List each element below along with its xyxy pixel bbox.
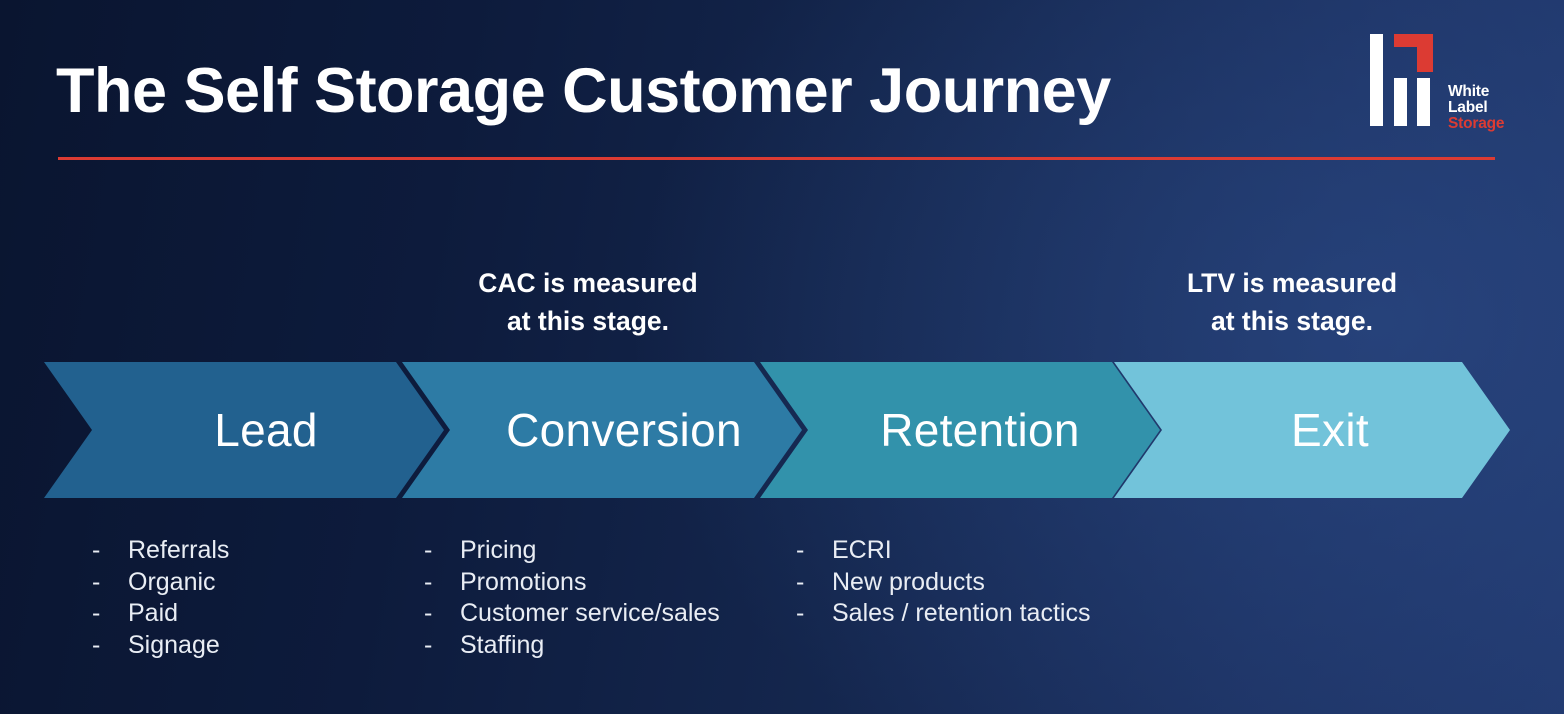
bullet-dash-icon: - — [92, 568, 128, 597]
logo-bar-tall — [1370, 34, 1383, 126]
list-item: - Signage — [92, 631, 229, 663]
callout-cac-line2: at this stage. — [418, 303, 758, 341]
list-item-label: Staffing — [460, 631, 544, 660]
logo-text-label: Label — [1448, 100, 1504, 116]
list-item: - Customer service/sales — [424, 599, 720, 631]
list-item-label: Customer service/sales — [460, 599, 720, 628]
journey-stage-band: Lead Conversion Retention Exit — [0, 362, 1564, 498]
bullet-dash-icon: - — [92, 599, 128, 628]
stage-label-exit: Exit — [1291, 403, 1369, 457]
list-item: - Pricing — [424, 536, 720, 568]
stage-label-lead: Lead — [214, 403, 318, 457]
callout-ltv-line2: at this stage. — [1122, 303, 1462, 341]
stage-chevron-conversion[interactable]: Conversion — [402, 362, 802, 498]
callout-cac-line1: CAC is measured — [478, 268, 697, 298]
list-item: - Sales / retention tactics — [796, 599, 1090, 631]
logo-bar-mid — [1394, 78, 1407, 126]
bullet-dash-icon: - — [92, 631, 128, 660]
stage-label-retention: Retention — [880, 403, 1080, 457]
bullet-dash-icon: - — [424, 631, 460, 660]
page-title: The Self Storage Customer Journey — [56, 58, 1386, 124]
list-item: - Promotions — [424, 568, 720, 600]
brand-logo: White Label Storage — [1370, 28, 1510, 138]
bullet-dash-icon: - — [796, 568, 832, 597]
callout-ltv-line1: LTV is measured — [1187, 268, 1397, 298]
bullet-dash-icon: - — [424, 599, 460, 628]
bullet-dash-icon: - — [92, 536, 128, 565]
list-item-label: New products — [832, 568, 985, 597]
logo-wordmark: White Label Storage — [1448, 84, 1504, 131]
bullet-dash-icon: - — [424, 568, 460, 597]
list-item-label: Organic — [128, 568, 216, 597]
bullet-dash-icon: - — [424, 536, 460, 565]
stage-chevron-retention[interactable]: Retention — [760, 362, 1160, 498]
callout-cac: CAC is measured at this stage. — [418, 265, 758, 340]
callout-ltv: LTV is measured at this stage. — [1122, 265, 1462, 340]
slide-canvas: The Self Storage Customer Journey White … — [0, 0, 1564, 714]
list-retention: - ECRI - New products - Sales / retentio… — [796, 536, 1090, 631]
list-item-label: Signage — [128, 631, 220, 660]
logo-text-white: White — [1448, 84, 1504, 100]
logo-bar-short — [1417, 78, 1430, 126]
list-item: - Staffing — [424, 631, 720, 663]
list-item-label: ECRI — [832, 536, 892, 565]
logo-red-vertical — [1417, 34, 1433, 72]
list-item-label: Paid — [128, 599, 178, 628]
title-divider — [58, 157, 1495, 160]
list-item: - Organic — [92, 568, 229, 600]
list-item-label: Sales / retention tactics — [832, 599, 1090, 628]
bullet-dash-icon: - — [796, 599, 832, 628]
stage-chevron-lead[interactable]: Lead — [44, 362, 444, 498]
list-item-label: Referrals — [128, 536, 229, 565]
bullet-dash-icon: - — [796, 536, 832, 565]
list-item: - ECRI — [796, 536, 1090, 568]
logo-text-storage: Storage — [1448, 116, 1504, 132]
list-item-label: Promotions — [460, 568, 586, 597]
stage-chevron-exit[interactable]: Exit — [1114, 362, 1510, 498]
list-item: - Referrals — [92, 536, 229, 568]
logo-bars-icon — [1370, 28, 1442, 132]
stage-label-conversion: Conversion — [506, 403, 742, 457]
list-item-label: Pricing — [460, 536, 536, 565]
list-item: - Paid — [92, 599, 229, 631]
list-item: - New products — [796, 568, 1090, 600]
list-lead: - Referrals - Organic - Paid - Signage — [92, 536, 229, 662]
list-conversion: - Pricing - Promotions - Customer servic… — [424, 536, 720, 662]
stage-detail-lists: - Referrals - Organic - Paid - Signage -… — [0, 536, 1564, 696]
